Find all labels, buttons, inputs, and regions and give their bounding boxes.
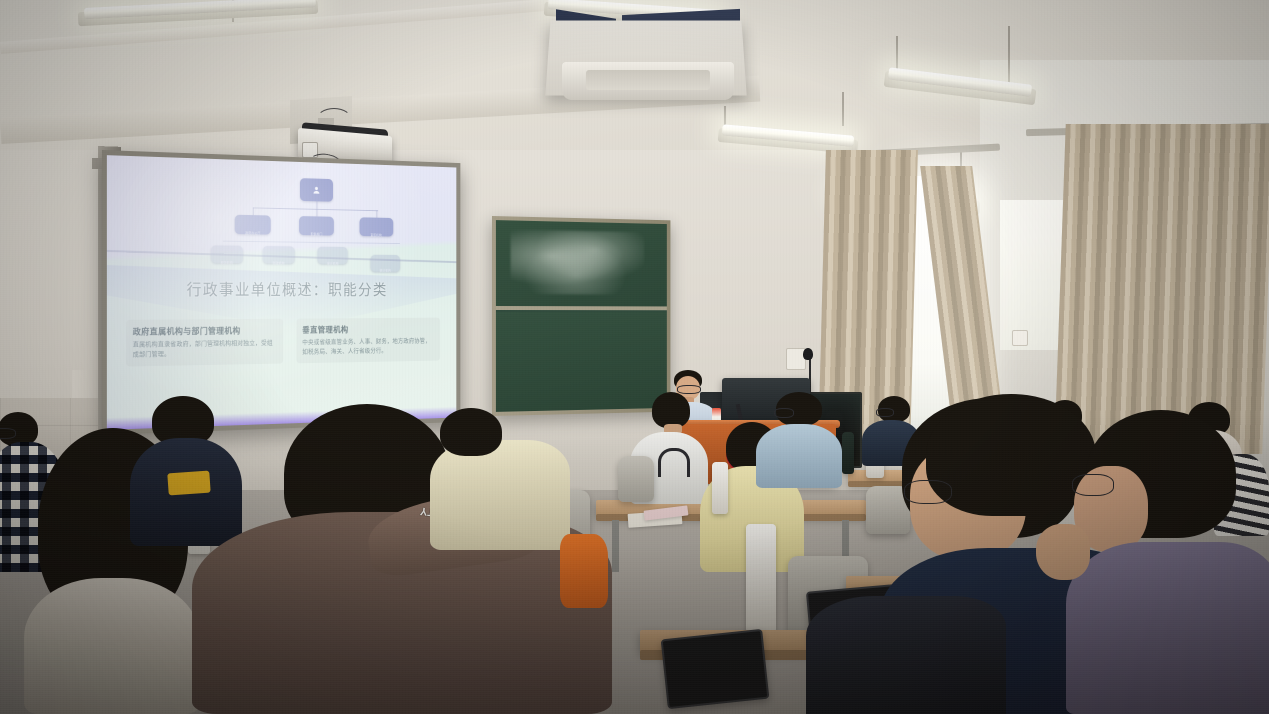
thermos-bottle (712, 462, 728, 514)
org-node-label: 审计机构 (317, 260, 348, 265)
org-node-level2: 直属机构 (359, 217, 393, 237)
light-hanger (842, 92, 844, 126)
student-hair (440, 408, 502, 456)
slide-card-heading: 政府直属机构与部门管理机构 (133, 324, 278, 337)
microphone-icon (803, 348, 813, 360)
org-chart-diagram: 政府办公厅 职能部门 直属机构 税务机构 财政机构 审计机构 (219, 175, 411, 267)
desk-leg (612, 520, 619, 572)
student-dark-right-edge (806, 596, 1006, 714)
student-hand (1036, 524, 1090, 580)
slide-card-body: 直属机构直隶省政府，部门管理机构相对独立，受组成部门管理。 (133, 339, 278, 360)
student-cream-jacket-mid (430, 440, 570, 550)
org-node-level3: 统计机构 (371, 255, 401, 272)
window-daylight-secondary (1000, 200, 1064, 350)
light-switch[interactable] (1012, 330, 1028, 346)
ac-vent (586, 70, 710, 90)
org-connector (376, 210, 377, 217)
tablet-device[interactable] (661, 629, 770, 709)
chalk-smudges (510, 229, 644, 295)
thermos-bottle (746, 524, 776, 632)
student-glasses (1072, 474, 1114, 496)
student-shirt (756, 424, 842, 488)
org-connector (223, 240, 400, 243)
org-node-label: 直属机构 (359, 232, 393, 237)
projection-screen: 政府办公厅 职能部门 直属机构 税务机构 财政机构 审计机构 (102, 150, 460, 435)
slide-card-heading: 垂直管理机构 (302, 323, 434, 336)
org-node-level3: 审计机构 (317, 247, 348, 264)
student-back-right (756, 392, 842, 488)
slide-card-body: 中央或省级直管业务、人事、财务，地方政府协管，如税务局、海关、人行省级分行。 (302, 337, 434, 357)
student-glasses (774, 408, 794, 418)
shirt-graphic (658, 448, 690, 477)
org-node-label: 政府办公厅 (235, 230, 271, 235)
org-connector (317, 201, 318, 209)
org-node-level2: 政府办公厅 (235, 214, 271, 234)
projector-cable (316, 108, 352, 132)
org-node-label: 职能部门 (299, 231, 334, 236)
org-node-level2: 职能部门 (299, 216, 334, 236)
slide-card-row: 政府直属机构与部门管理机构 直属机构直隶省政府，部门管理机构相对独立，受组成部门… (126, 318, 440, 367)
org-root-node (300, 178, 333, 202)
student-cream-top (24, 578, 200, 714)
student-glasses (0, 428, 16, 439)
student-hair-front (926, 394, 1096, 516)
person-icon (310, 185, 324, 195)
chalkboard-upper-panel (496, 220, 667, 310)
slide-card: 垂直管理机构 中央或省级直管业务、人事、财务，地方政府协管，如税务局、海关、人行… (296, 318, 440, 364)
classroom-photo: 政府办公厅 职能部门 直属机构 税务机构 财政机构 审计机构 (0, 0, 1269, 714)
slide-title: 行政事业单位概述：职能分类 (107, 276, 456, 300)
org-connector (253, 208, 378, 212)
orange-jacket-drape (560, 534, 608, 608)
org-node-label: 财政机构 (263, 260, 294, 265)
org-connector (317, 209, 318, 216)
student-jacket-cream (430, 440, 570, 550)
student-shirt-mauve (1066, 542, 1269, 714)
org-connector (253, 208, 254, 215)
org-node-label: 税务机构 (211, 260, 243, 265)
student-hair (652, 392, 690, 428)
light-hanger (1008, 26, 1010, 86)
org-node-label: 统计机构 (371, 268, 401, 273)
presentation-slide: 政府办公厅 职能部门 直属机构 税务机构 财政机构 审计机构 (107, 155, 456, 430)
classroom-chair[interactable] (618, 456, 654, 502)
chalkboard-surface (496, 220, 667, 412)
student-glasses (904, 480, 952, 504)
dark-bottle (842, 432, 854, 474)
slide-card: 政府直属机构与部门管理机构 直属机构直隶省政府，部门管理机构相对独立，受组成部门… (126, 319, 284, 367)
chalkboard (492, 216, 670, 416)
student-mauve-shirt-front (1080, 410, 1269, 714)
student-top-dark (806, 596, 1006, 714)
